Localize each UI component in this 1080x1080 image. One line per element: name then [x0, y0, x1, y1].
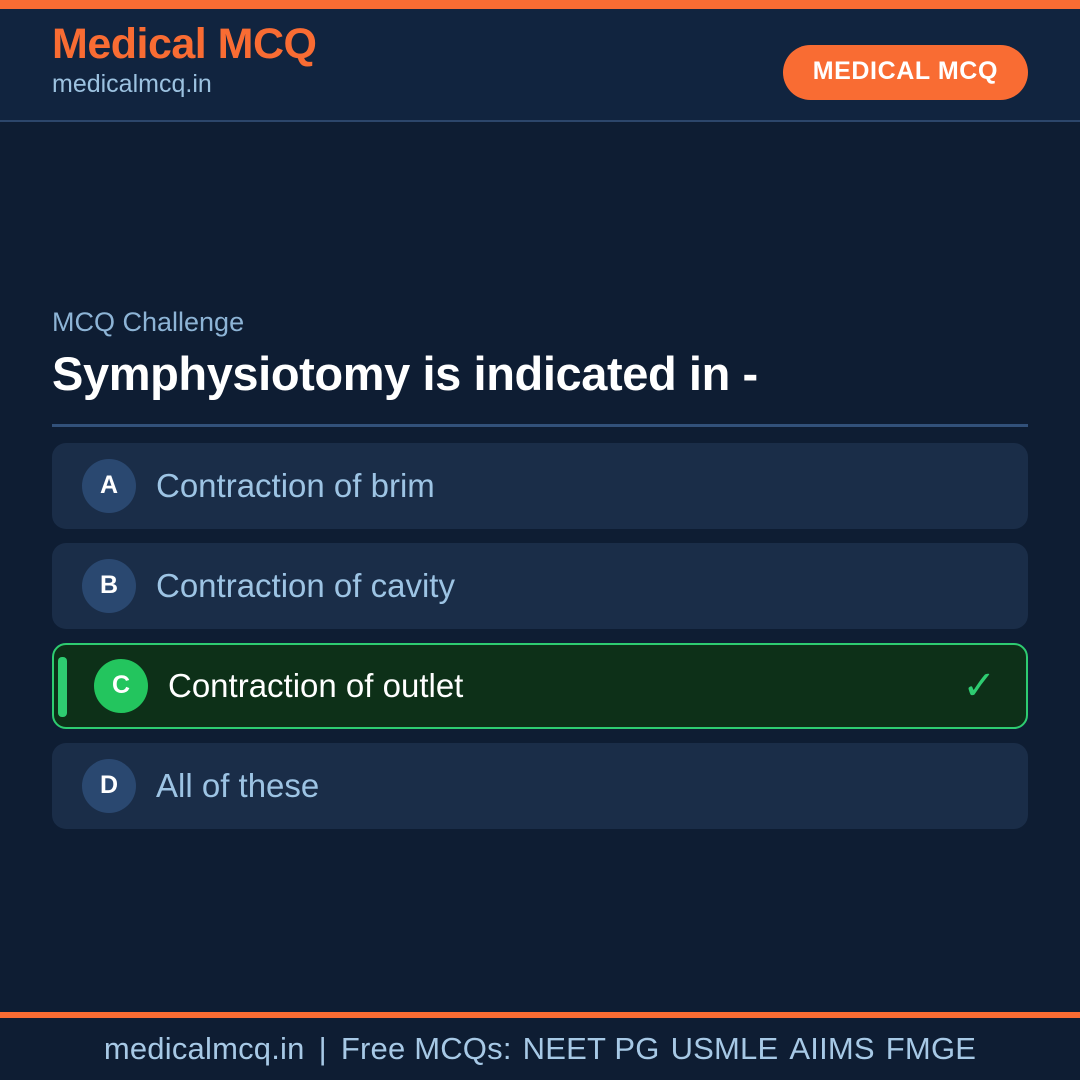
footer-separator: |	[305, 1031, 341, 1066]
footer-exam-aiims: AIIMS	[778, 1031, 874, 1066]
footer-exam-neetpg: NEET PG	[512, 1031, 660, 1066]
options-list: A Contraction of brim B Contraction of c…	[52, 443, 1028, 829]
question-text: Symphysiotomy is indicated in -	[52, 346, 1028, 401]
main-content: MCQ Challenge Symphysiotomy is indicated…	[52, 305, 1028, 829]
top-accent-bar	[0, 0, 1080, 9]
option-row-a[interactable]: A Contraction of brim	[52, 443, 1028, 529]
option-label-b: Contraction of cavity	[156, 569, 455, 602]
option-key-badge-a: A	[82, 459, 136, 513]
option-key-badge-b: B	[82, 559, 136, 613]
footer-prefix: Free MCQs:	[341, 1031, 512, 1066]
page-header: Medical MCQ medicalmcq.in MEDICAL MCQ	[0, 9, 1080, 122]
check-icon: ✓	[962, 666, 996, 706]
header-badge: MEDICAL MCQ	[783, 45, 1028, 100]
eyebrow-label: MCQ Challenge	[52, 305, 1028, 340]
page-footer: medicalmcq.in|Free MCQs:NEET PGUSMLEAIIM…	[0, 1012, 1080, 1080]
option-row-b[interactable]: B Contraction of cavity	[52, 543, 1028, 629]
option-key-badge-d: D	[82, 759, 136, 813]
footer-exam-fmge: FMGE	[875, 1031, 976, 1066]
option-key-badge-c: C	[94, 659, 148, 713]
option-row-c[interactable]: C Contraction of outlet ✓	[52, 643, 1028, 729]
correct-accent-bar	[58, 657, 67, 717]
option-label-c: Contraction of outlet	[168, 669, 463, 702]
option-row-d[interactable]: D All of these	[52, 743, 1028, 829]
brand-subtitle: medicalmcq.in	[52, 69, 317, 100]
option-label-d: All of these	[156, 769, 319, 802]
option-label-a: Contraction of brim	[156, 469, 435, 502]
brand-block: Medical MCQ medicalmcq.in	[52, 22, 317, 100]
brand-title: Medical MCQ	[52, 22, 317, 67]
question-divider	[52, 424, 1028, 427]
footer-text: medicalmcq.in|Free MCQs:NEET PGUSMLEAIIM…	[104, 1031, 976, 1067]
footer-site: medicalmcq.in	[104, 1031, 305, 1066]
footer-exam-usmle: USMLE	[660, 1031, 779, 1066]
